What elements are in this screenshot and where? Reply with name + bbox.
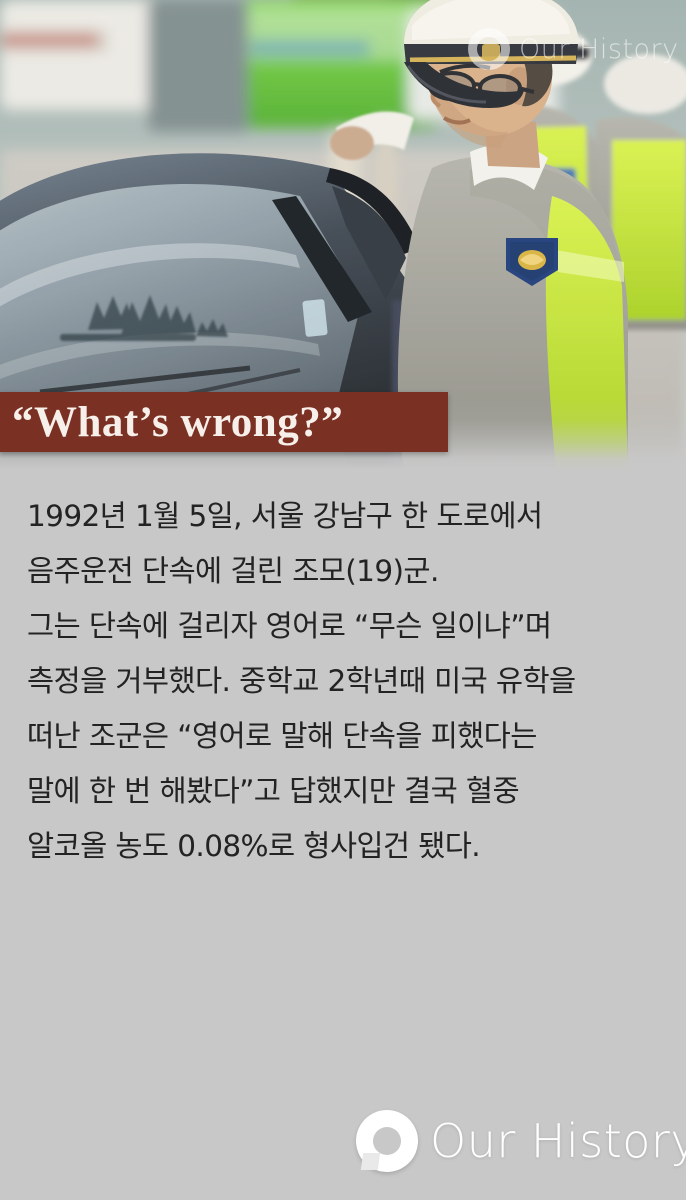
footer-brand-logo: Our History [356, 1110, 686, 1172]
body-line: 떠난 조군은 “영어로 말해 단속을 피했다는 [27, 709, 657, 764]
story-card: Our History “What’s wrong?” 1992년 1월 5일,… [0, 0, 686, 1200]
body-line: 그는 단속에 걸리자 영어로 “무슨 일이냐”며 [27, 599, 657, 654]
brand-name: Our History [430, 1114, 686, 1168]
ring-logo-icon [356, 1110, 418, 1172]
body-line: 측정을 거부했다. 중학교 2학년때 미국 유학을 [27, 654, 657, 709]
body-paragraph: 1992년 1월 5일, 서울 강남구 한 도로에서 음주운전 단속에 걸린 조… [27, 489, 657, 874]
body-line: 알코올 농도 0.08%로 형사입건 됐다. [27, 819, 657, 874]
page-title: “What’s wrong?” [0, 401, 343, 444]
body-line: 음주운전 단속에 걸린 조모(19)군. [27, 544, 657, 599]
body-line: 1992년 1월 5일, 서울 강남구 한 도로에서 [27, 489, 657, 544]
ring-logo-notch [361, 1153, 380, 1170]
title-banner: “What’s wrong?” [0, 392, 448, 452]
body-line: 말에 한 번 해봤다”고 답했지만 결국 혈중 [27, 764, 657, 819]
